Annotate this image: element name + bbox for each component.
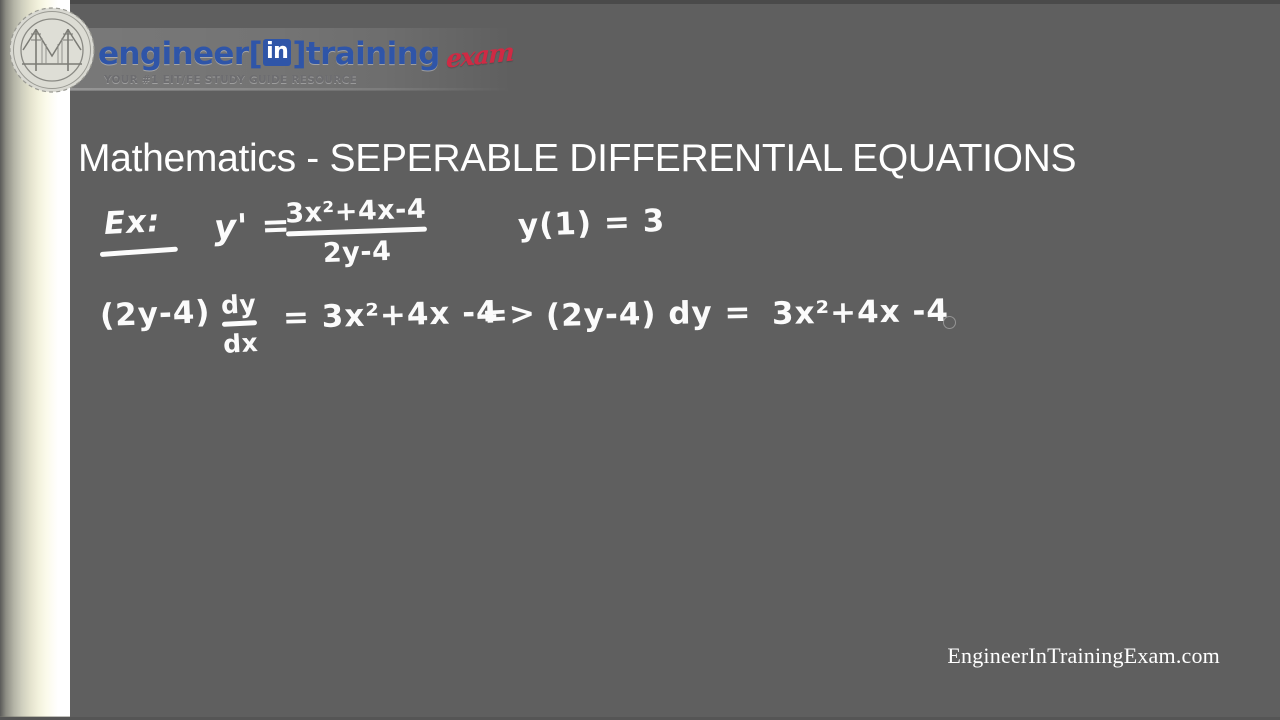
top-edge-bar [0, 0, 1280, 4]
brand-tagline: YOUR #1 EIT/FE STUDY GUIDE RESOURCE [104, 74, 357, 86]
handwriting-line2-derivative-denominator: dx [222, 328, 259, 359]
wordmark-exam: exam [445, 37, 513, 73]
header-band-underline [70, 88, 512, 91]
brand-wordmark[interactable]: engineer [ in ] training exam [98, 36, 513, 76]
handwriting-line2-result-lhs: (2y-4) dy = [546, 294, 752, 334]
handwriting-line2-rhs: = 3x²+4x -4 [283, 294, 500, 336]
slide-screen: engineer [ in ] training exam YOUR #1 EI… [0, 0, 1280, 720]
pen-cursor-icon [943, 316, 956, 329]
handwriting-example-label: Ex: [103, 203, 161, 242]
footer-site-url: EngineerInTrainingExam.com [0, 643, 1220, 669]
wordmark-in-badge: [ in ] [249, 36, 306, 72]
handwriting-line2-implies: => [481, 295, 537, 334]
page-title: Mathematics - SEPERABLE DIFFERENTIAL EQU… [78, 136, 1278, 182]
handwriting-line2-derivative-numerator: dy [220, 289, 257, 320]
wordmark-in-text: in [263, 39, 291, 66]
handwriting-line1-lhs: y' = [213, 205, 291, 248]
wordmark-bracket-open: [ [249, 36, 263, 72]
wordmark-bracket-close: ] [292, 36, 306, 72]
handwriting-line1-denominator: 2y-4 [286, 235, 428, 271]
handwriting-line2-derivative: dy dx [220, 289, 259, 359]
wordmark-engineer: engineer [98, 36, 249, 72]
handwriting-line2-derivative-bar [222, 320, 257, 327]
left-gradient-strip [0, 0, 70, 720]
slide-background [0, 0, 1280, 720]
handwriting-line1-numerator: 3x²+4x-4 [285, 194, 427, 230]
bridge-badge-icon [6, 4, 98, 96]
handwriting-line2-result-rhs: 3x²+4x -4 [772, 293, 950, 332]
wordmark-training: training [306, 36, 440, 72]
handwriting-line1-fraction: 3x²+4x-4 2y-4 [285, 194, 428, 271]
handwriting-initial-condition: y(1) = 3 [517, 203, 665, 244]
handwriting-line2-lhs: (2y-4) [99, 294, 211, 334]
